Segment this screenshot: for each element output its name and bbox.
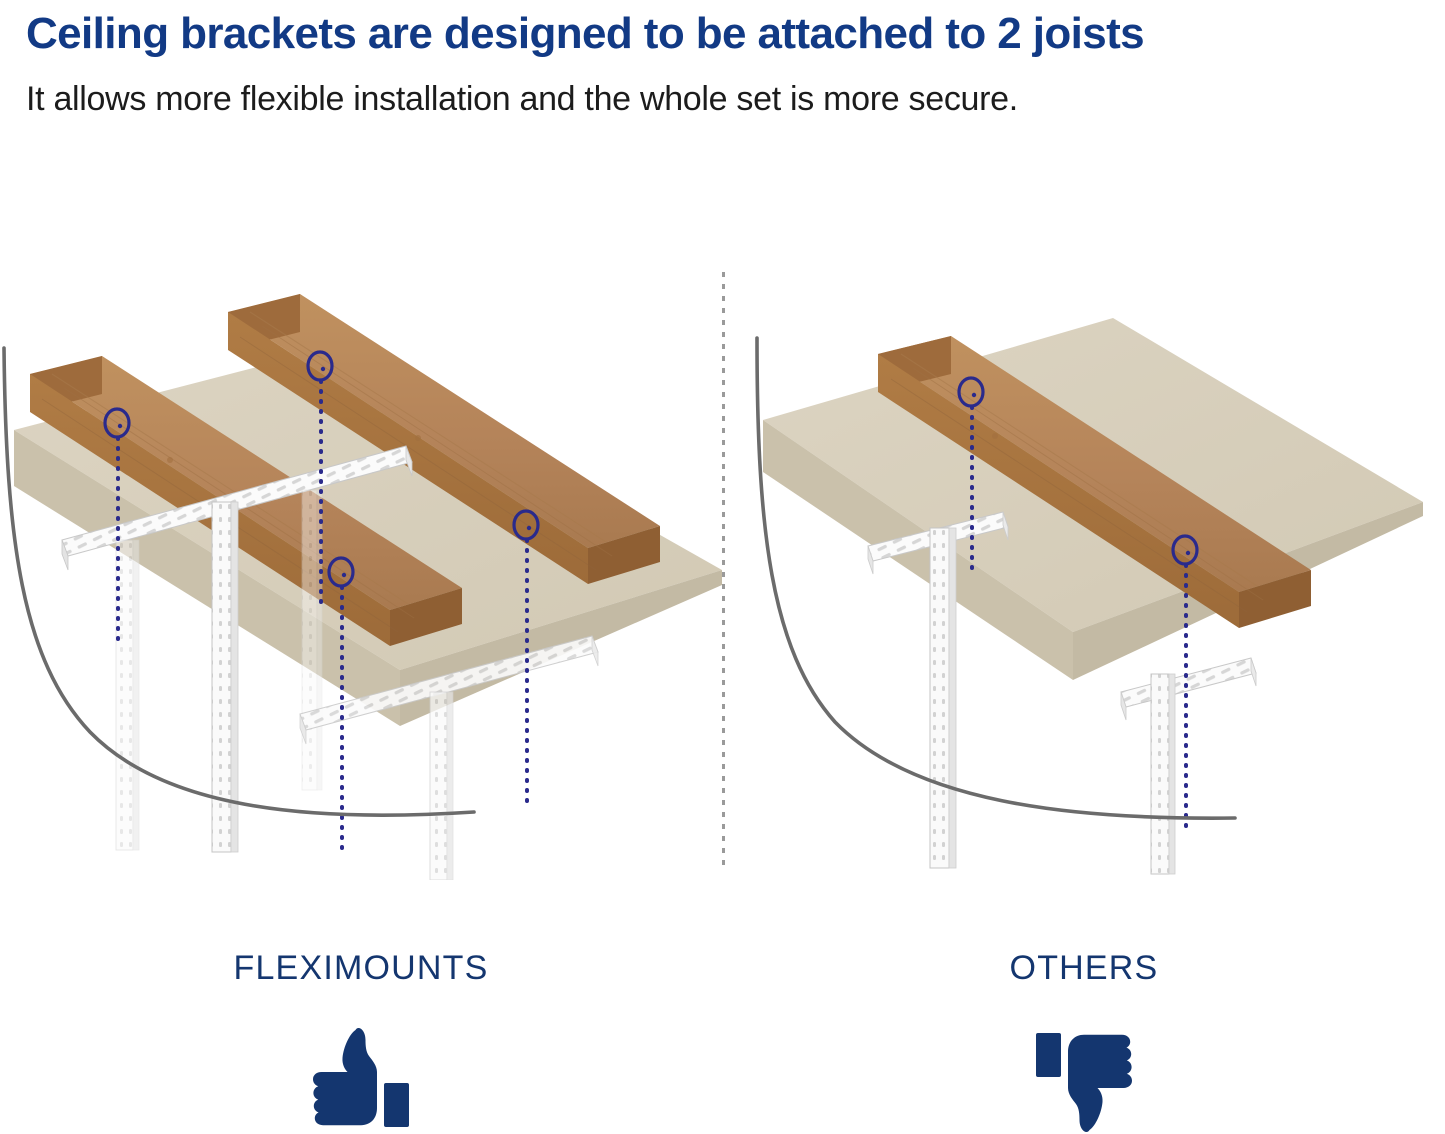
page-subtitle: It allows more flexible installation and… xyxy=(26,76,1419,122)
comparison-infographic: Ceiling brackets are designed to be atta… xyxy=(0,0,1445,1134)
page-title: Ceiling brackets are designed to be atta… xyxy=(26,6,1419,62)
brand-label-others: OTHERS xyxy=(723,948,1445,988)
brand-label-fleximounts: FLEXIMOUNTS xyxy=(0,948,722,988)
header: Ceiling brackets are designed to be atta… xyxy=(0,0,1445,122)
bracket-right xyxy=(1121,658,1256,874)
illustration-fleximounts xyxy=(0,240,722,880)
verdict-block-fleximounts: FLEXIMOUNTS xyxy=(0,948,722,1134)
illustration-others xyxy=(723,240,1445,880)
verdict-block-others: OTHERS xyxy=(723,948,1445,1134)
thumbs-down-icon xyxy=(1032,1026,1136,1134)
thumbs-up-icon xyxy=(309,1026,413,1134)
